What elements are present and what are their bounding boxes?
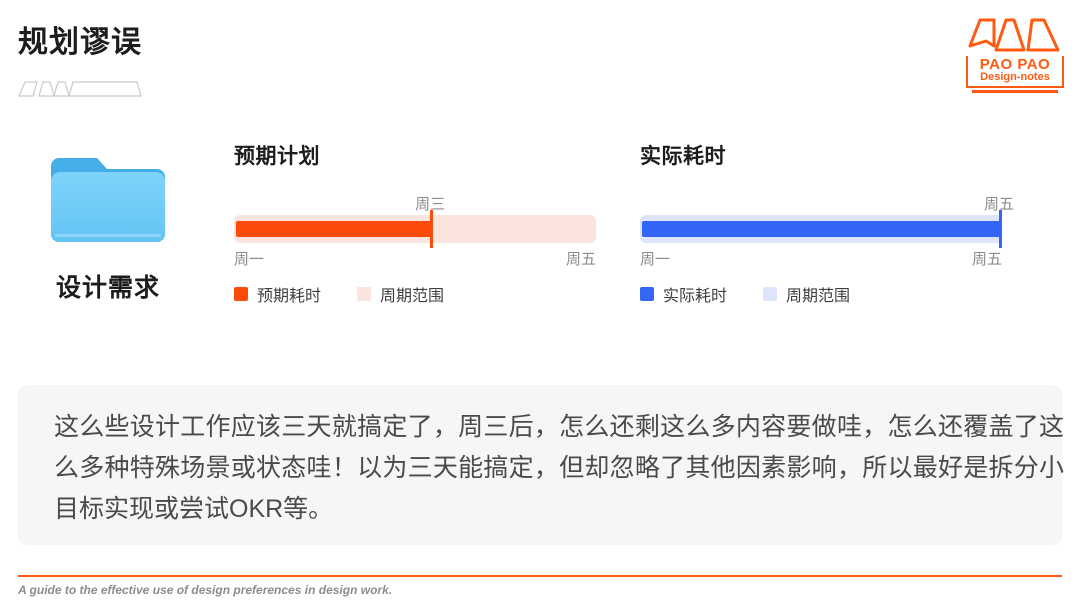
chart-title: 预期计划 xyxy=(234,140,596,170)
marker-line xyxy=(999,210,1002,248)
axis-row: 周一 周五 xyxy=(234,248,596,270)
legend-item: 实际耗时 xyxy=(640,282,727,306)
page-title: 规划谬误 xyxy=(18,26,142,59)
chart-title: 实际耗时 xyxy=(640,140,1002,170)
chart-legend: 实际耗时 周期范围 xyxy=(640,282,1002,306)
legend-label: 周期范围 xyxy=(380,282,444,306)
legend-swatch xyxy=(640,287,654,301)
logo-baseline xyxy=(972,90,1058,93)
legend-item: 周期范围 xyxy=(357,282,444,306)
legend-swatch xyxy=(357,287,371,301)
footer-rule xyxy=(18,575,1062,577)
legend-label: 预期耗时 xyxy=(257,282,321,306)
folder-icon xyxy=(47,150,169,248)
subject-block: 设计需求 xyxy=(18,150,198,304)
chart-expected-plan: 预期计划 周三 周一 周五 预期耗时 周期范围 xyxy=(234,140,596,306)
axis-end-label: 周五 xyxy=(566,248,596,269)
logo-text-box: PAO PAO Design-notes xyxy=(966,56,1064,88)
brand-logo: PAO PAO Design-notes xyxy=(966,16,1064,98)
bar-fill-actual xyxy=(642,221,1000,237)
bar-fill-expected xyxy=(236,221,431,237)
note-box: 这么些设计工作应该三天就搞定了，周三后，怎么还剩这么多内容要做哇，怎么还覆盖了这… xyxy=(18,385,1062,545)
axis-row: 周一 周五 xyxy=(640,248,1002,270)
title-decoration-icon xyxy=(17,78,143,100)
logo-title: PAO PAO xyxy=(971,57,1059,72)
legend-label: 实际耗时 xyxy=(663,282,727,306)
marker-row: 周三 xyxy=(234,192,596,214)
bar-track-wrap xyxy=(640,214,1002,244)
subject-label: 设计需求 xyxy=(18,268,198,304)
axis-end-label: 周五 xyxy=(972,248,1002,269)
legend-item: 周期范围 xyxy=(763,282,850,306)
legend-swatch xyxy=(234,287,248,301)
chart-legend: 预期耗时 周期范围 xyxy=(234,282,596,306)
axis-start-label: 周一 xyxy=(640,248,670,269)
chart-actual-effort: 实际耗时 周五 周一 周五 实际耗时 周期范围 xyxy=(640,140,1002,306)
marker-row: 周五 xyxy=(640,192,1002,214)
legend-item: 预期耗时 xyxy=(234,282,321,306)
footer-text: A guide to the effective use of design p… xyxy=(18,583,392,597)
marker-line xyxy=(430,210,433,248)
legend-label: 周期范围 xyxy=(786,282,850,306)
logo-subtitle: Design-notes xyxy=(971,72,1059,83)
axis-start-label: 周一 xyxy=(234,248,264,269)
awning-logo-icon xyxy=(966,16,1062,58)
note-text: 这么些设计工作应该三天就搞定了，周三后，怎么还剩这么多内容要做哇，怎么还覆盖了这… xyxy=(54,407,1064,530)
bar-track-wrap xyxy=(234,214,596,244)
legend-swatch xyxy=(763,287,777,301)
